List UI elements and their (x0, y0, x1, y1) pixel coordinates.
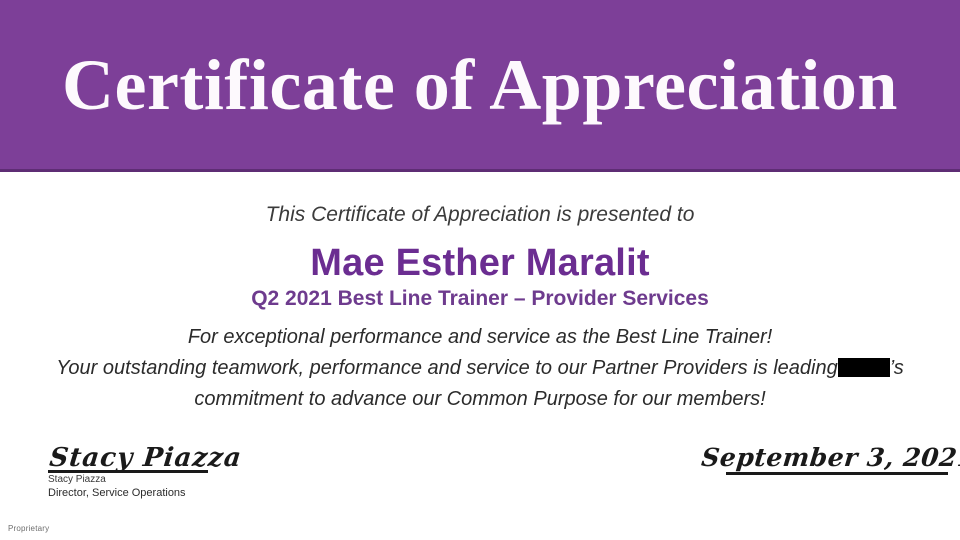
citation-line-2-prefix: Your outstanding teamwork, performance a… (56, 357, 838, 379)
redaction-bar (838, 358, 890, 377)
presented-to-label: This Certificate of Appreciation is pres… (0, 203, 960, 227)
certificate-page: Certificate of Appreciation This Certifi… (0, 0, 960, 540)
citation-line-3: commitment to advance our Common Purpose… (30, 384, 930, 415)
date-block: September 3, 2021 (700, 443, 948, 475)
signature-printed-name: Stacy Piazza (48, 473, 348, 486)
citation-line-1: For exceptional performance and service … (30, 322, 930, 353)
certificate-header-banner: Certificate of Appreciation (0, 0, 960, 169)
award-title: Q2 2021 Best Line Trainer – Provider Ser… (0, 287, 960, 311)
citation-line-2-suffix: ’s (890, 357, 904, 379)
signature-block: Stacy Piazza Stacy Piazza Director, Serv… (48, 443, 348, 500)
citation-text: For exceptional performance and service … (30, 322, 930, 415)
signature-role: Director, Service Operations (48, 486, 348, 500)
footer-proprietary-note: Proprietary (8, 524, 49, 533)
recipient-name: Mae Esther Maralit (0, 242, 960, 285)
date-script: September 3, 2021 (700, 443, 951, 472)
signature-script: Stacy Piazza (48, 443, 351, 473)
citation-line-2: Your outstanding teamwork, performance a… (30, 353, 930, 384)
certificate-title: Certificate of Appreciation (62, 49, 898, 121)
date-rule (726, 472, 948, 475)
